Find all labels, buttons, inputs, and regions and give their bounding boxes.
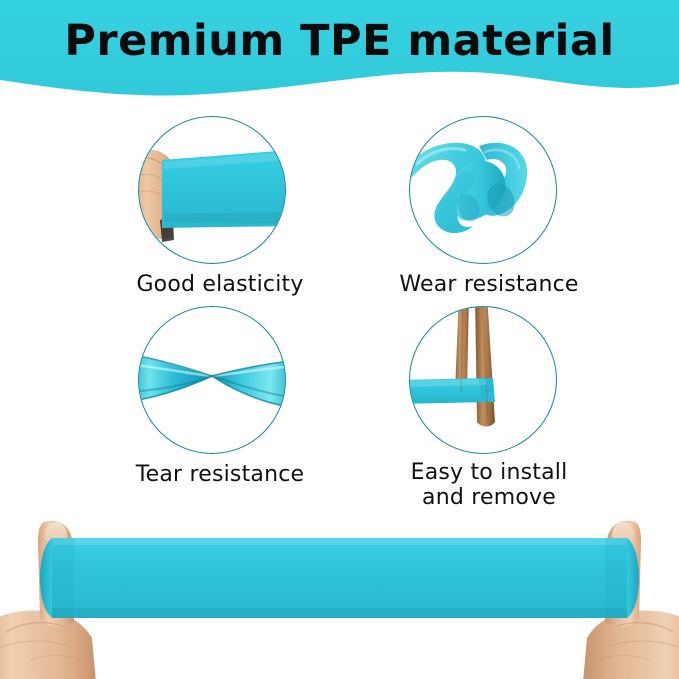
feature-circle-wear-resistance [409,116,557,264]
feature-label-wear-resistance: Wear resistance [330,272,630,297]
page-title: Premium TPE material [0,16,679,66]
circle-outline [409,116,557,264]
feature-item-tear-resistance: Tear resistance [65,306,365,487]
feature-item-easy-install-remove: Easy to install and remove [330,306,630,510]
feature-item-wear-resistance: Wear resistance [330,116,630,297]
hero-hands-stretching-band [0,500,679,679]
feature-circle-easy-install-remove [409,306,557,454]
header-banner: Premium TPE material [0,0,679,100]
infographic-page: Premium TPE material [0,0,679,679]
feature-label-good-elasticity: Good elasticity [65,272,365,297]
circle-outline [138,116,286,264]
hands-band-illustration [0,500,679,679]
feature-circle-good-elasticity [138,116,286,264]
feature-item-good-elasticity: Good elasticity [65,116,365,297]
band-body [52,538,627,618]
feature-label-tear-resistance: Tear resistance [65,462,365,487]
feature-circle-tear-resistance [138,306,286,454]
stretched-band [40,538,639,618]
feature-grid: Good elasticity [0,104,679,514]
circle-outline [138,306,286,454]
circle-outline [409,306,557,454]
